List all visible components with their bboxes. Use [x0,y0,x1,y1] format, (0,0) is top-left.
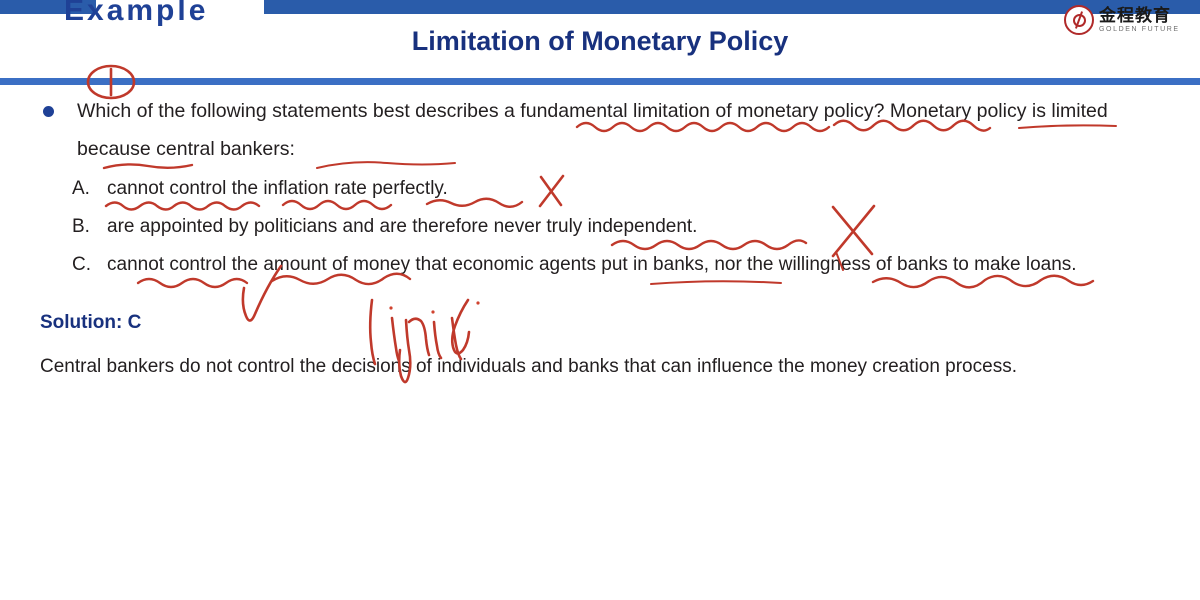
brand-logo: 金程教育 GOLDEN FUTURE [1064,3,1192,37]
slide-canvas: Example Limitation of Monetary Policy 金程… [0,0,1200,600]
option-b-text: are appointed by politicians and are the… [107,208,1142,246]
brand-name-cn: 金程教育 [1099,7,1180,24]
page-title: Limitation of Monetary Policy [0,26,1200,57]
bullet-dot-icon [43,106,54,117]
option-a-letter: A. [72,170,100,208]
solution-label: Solution: C [40,312,1200,334]
option-c-letter: C. [72,246,100,284]
option-b-letter: B. [72,208,100,246]
circular-seal-icon [1064,5,1094,35]
answer-options-list: A. cannot control the inflation rate per… [72,170,1200,284]
option-a[interactable]: A. cannot control the inflation rate per… [72,170,1142,208]
question-block: Which of the following statements best d… [40,92,1160,168]
brand-logo-text: 金程教育 GOLDEN FUTURE [1099,7,1180,33]
slide-body: Which of the following statements best d… [0,92,1200,386]
solution-explanation: Central bankers do not control the decis… [40,348,1130,386]
option-b[interactable]: B. are appointed by politicians and are … [72,208,1142,246]
question-text: Which of the following statements best d… [77,92,1162,168]
slide-kicker: Example [64,0,208,28]
option-c-text: cannot control the amount of money that … [107,246,1142,284]
header-bar-right [264,0,1200,14]
option-a-text: cannot control the inflation rate perfec… [107,170,1142,208]
brand-name-en: GOLDEN FUTURE [1099,26,1180,33]
header-divider [0,78,1200,85]
option-c[interactable]: C. cannot control the amount of money th… [72,246,1142,284]
